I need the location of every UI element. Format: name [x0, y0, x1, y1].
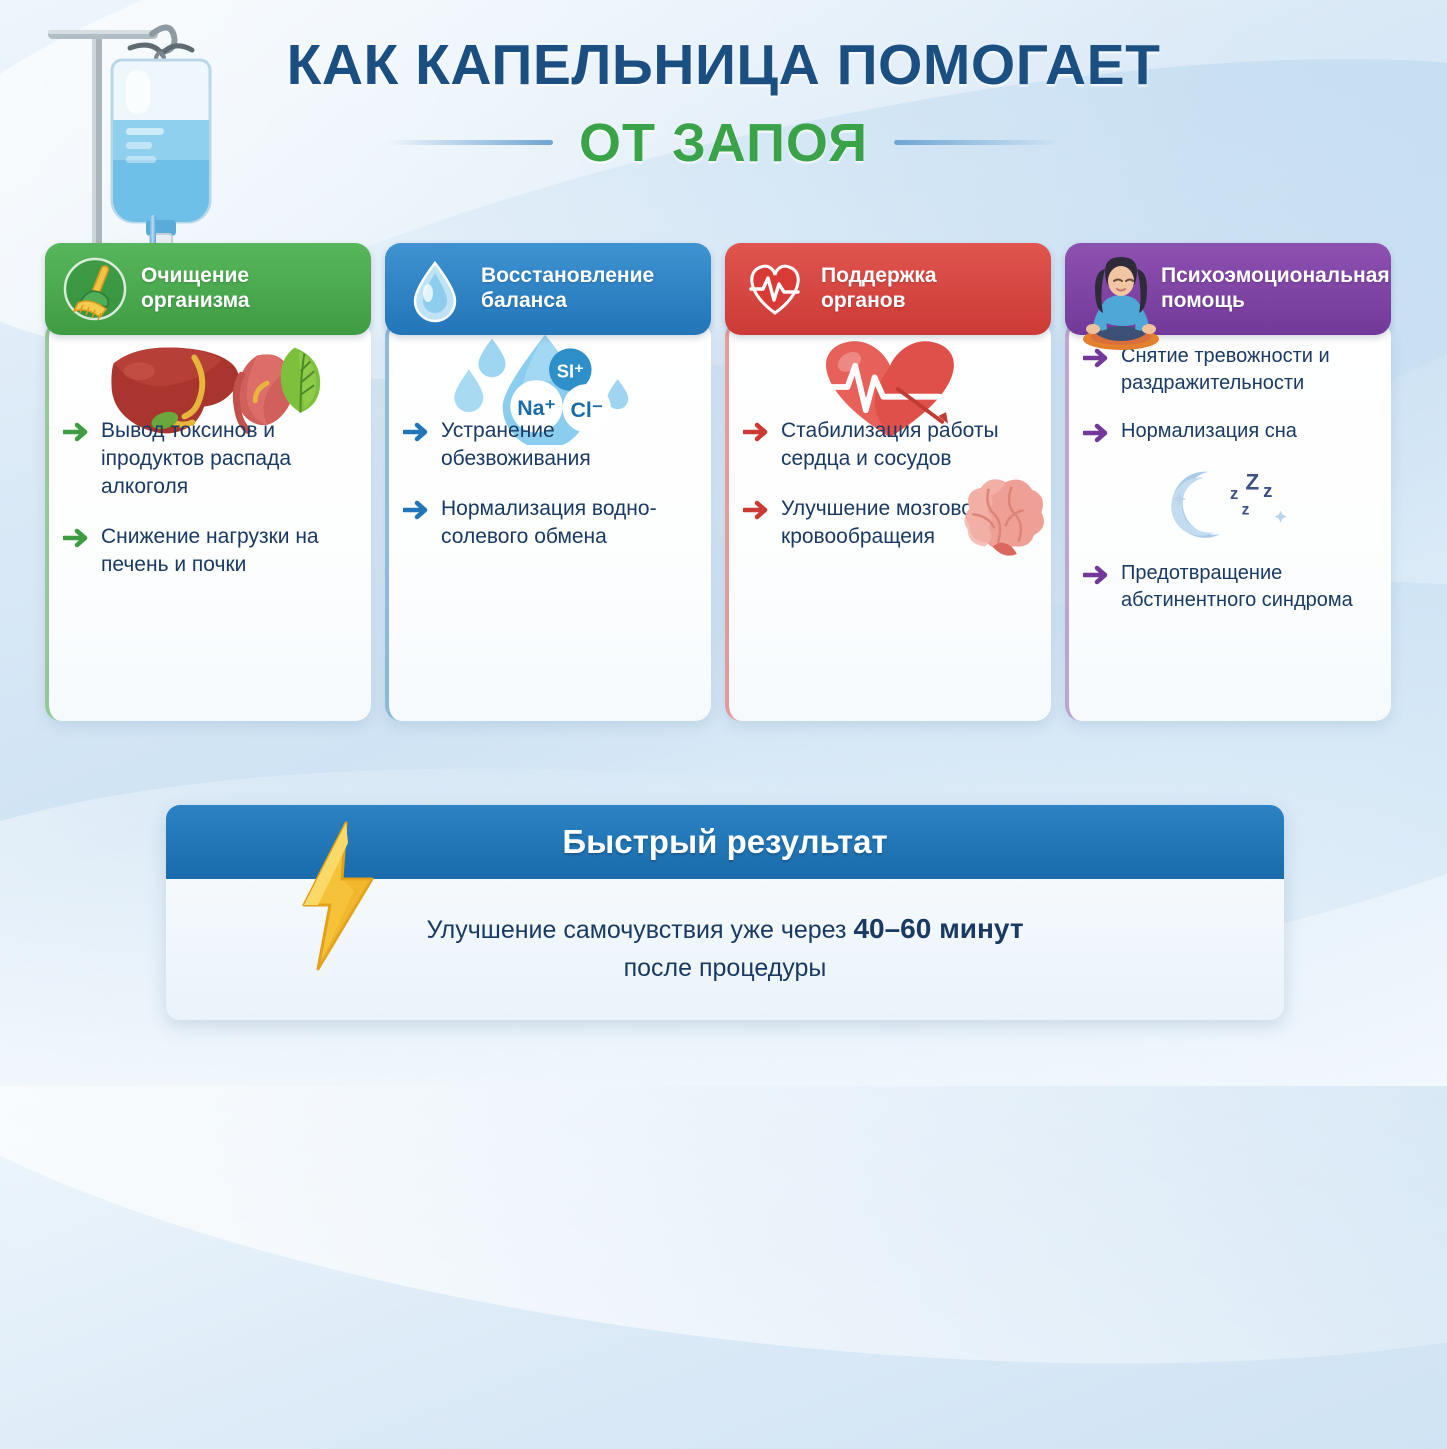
list-item: Снижение нагрузки на печень и почки	[63, 523, 355, 579]
card-organs-title: Поддержкаорганов	[821, 264, 937, 314]
list-item: Вывод токсинов и iпродуктов распада алко…	[63, 417, 355, 501]
card-cleansing-body: Вывод токсинов и iпродуктов распада алко…	[45, 321, 371, 721]
benefit-cards: Очищениеорганизма	[45, 243, 1405, 721]
list-item-label: Стабилизация работы сердца и сосудов	[781, 417, 1035, 473]
card-organs-header: Поддержкаорганов	[725, 243, 1051, 335]
list-item: Нормализация сна	[1083, 418, 1375, 448]
lightning-bolt-icon	[288, 821, 384, 971]
card-balance-body: SI⁺ Na⁺ Cl⁻ Устранение обезвоживания	[385, 321, 711, 721]
list-item-label: Предотвращение абстинентного синдрома	[1121, 560, 1375, 613]
list-item-label: Нормализация сна	[1121, 418, 1297, 445]
card-cleansing[interactable]: Очищениеорганизма	[45, 243, 371, 721]
card-balance-header: Восстановлениебаланса	[385, 243, 711, 335]
arrow-right-icon	[743, 422, 769, 447]
heart-pulse-icon	[741, 255, 809, 323]
arrow-right-icon	[63, 422, 89, 447]
svg-text:Z: Z	[1246, 470, 1260, 495]
arrow-right-icon	[743, 500, 769, 525]
broom-icon	[61, 255, 129, 323]
list-item-label: Снижение нагрузки на печень и почки	[101, 523, 355, 579]
list-item-label: Нормализация водно-солевого обмена	[441, 495, 695, 551]
divider-right	[894, 140, 1059, 145]
arrow-right-icon	[1083, 423, 1109, 448]
brain-icon	[945, 476, 1049, 567]
arrow-right-icon	[403, 422, 429, 447]
page-title: КАК КАПЕЛЬНИЦА ПОМОГАЕТ	[0, 36, 1447, 96]
list-item-label: Устранение обезвоживания	[441, 417, 695, 473]
list-item: Нормализация водно-солевого обмена	[403, 495, 695, 551]
card-organs-bullets: Стабилизация работы сердца и сосудов Улу…	[743, 417, 1035, 551]
arrow-right-icon	[1083, 565, 1109, 590]
card-psycho-bullets: Снятие тревожности и раздражительности Н…	[1083, 343, 1375, 613]
arrow-right-icon	[63, 528, 89, 553]
list-item: Предотвращение абстинентного синдрома	[1083, 560, 1375, 613]
card-balance-title: Восстановлениебаланса	[481, 264, 654, 314]
ion-label-si: SI⁺	[557, 360, 584, 381]
banner-text-before: Улучшение самочувствия уже через	[426, 916, 853, 944]
card-organs-body: Стабилизация работы сердца и сосудов Улу…	[725, 321, 1051, 721]
card-organs[interactable]: Поддержкаорганов Стабили	[725, 243, 1051, 721]
background-wave-bottom	[0, 683, 1447, 1449]
card-psycho[interactable]: Психоэмоциональнаяпомощь Снятие тревожно…	[1065, 243, 1391, 721]
meditating-person-icon	[1081, 255, 1149, 323]
card-cleansing-header: Очищениеорганизма	[45, 243, 371, 335]
svg-text:z: z	[1230, 484, 1238, 503]
list-item: Улучшение мозгового кровообращеия	[743, 495, 1035, 551]
page-header: КАК КАПЕЛЬНИЦА ПОМОГАЕТ ОТ ЗАПОЯ	[0, 0, 1447, 174]
moon-sleep-icon: Z z z z	[1083, 464, 1375, 542]
svg-text:z: z	[1242, 502, 1250, 519]
list-item: Устранение обезвоживания	[403, 417, 695, 473]
arrow-right-icon	[1083, 348, 1109, 373]
card-balance[interactable]: Восстановлениебаланса SI⁺ Na⁺	[385, 243, 711, 721]
page-subtitle: ОТ ЗАПОЯ	[579, 112, 868, 174]
arrow-right-icon	[403, 500, 429, 525]
list-item-label: Вывод токсинов и iпродуктов распада алко…	[101, 417, 355, 501]
card-balance-bullets: Устранение обезвоживания Нормализация во…	[403, 417, 695, 551]
divider-left	[388, 140, 553, 145]
card-psycho-body: Снятие тревожности и раздражительности Н…	[1065, 321, 1391, 721]
banner-highlight: 40–60 минут	[853, 913, 1023, 944]
fast-result-banner: Быстрый результат Улучшение самочувствия…	[166, 805, 1284, 1020]
card-cleansing-title: Очищениеорганизма	[141, 264, 250, 314]
water-drop-icon	[401, 255, 469, 323]
list-item: Стабилизация работы сердца и сосудов	[743, 417, 1035, 473]
svg-text:z: z	[1263, 480, 1272, 501]
card-psycho-header: Психоэмоциональнаяпомощь	[1065, 243, 1391, 335]
card-psycho-title: Психоэмоциональнаяпомощь	[1161, 264, 1390, 314]
subtitle-row: ОТ ЗАПОЯ	[0, 112, 1447, 174]
banner-text-after: после процедуры	[624, 954, 827, 982]
card-cleansing-bullets: Вывод токсинов и iпродуктов распада алко…	[63, 417, 355, 579]
